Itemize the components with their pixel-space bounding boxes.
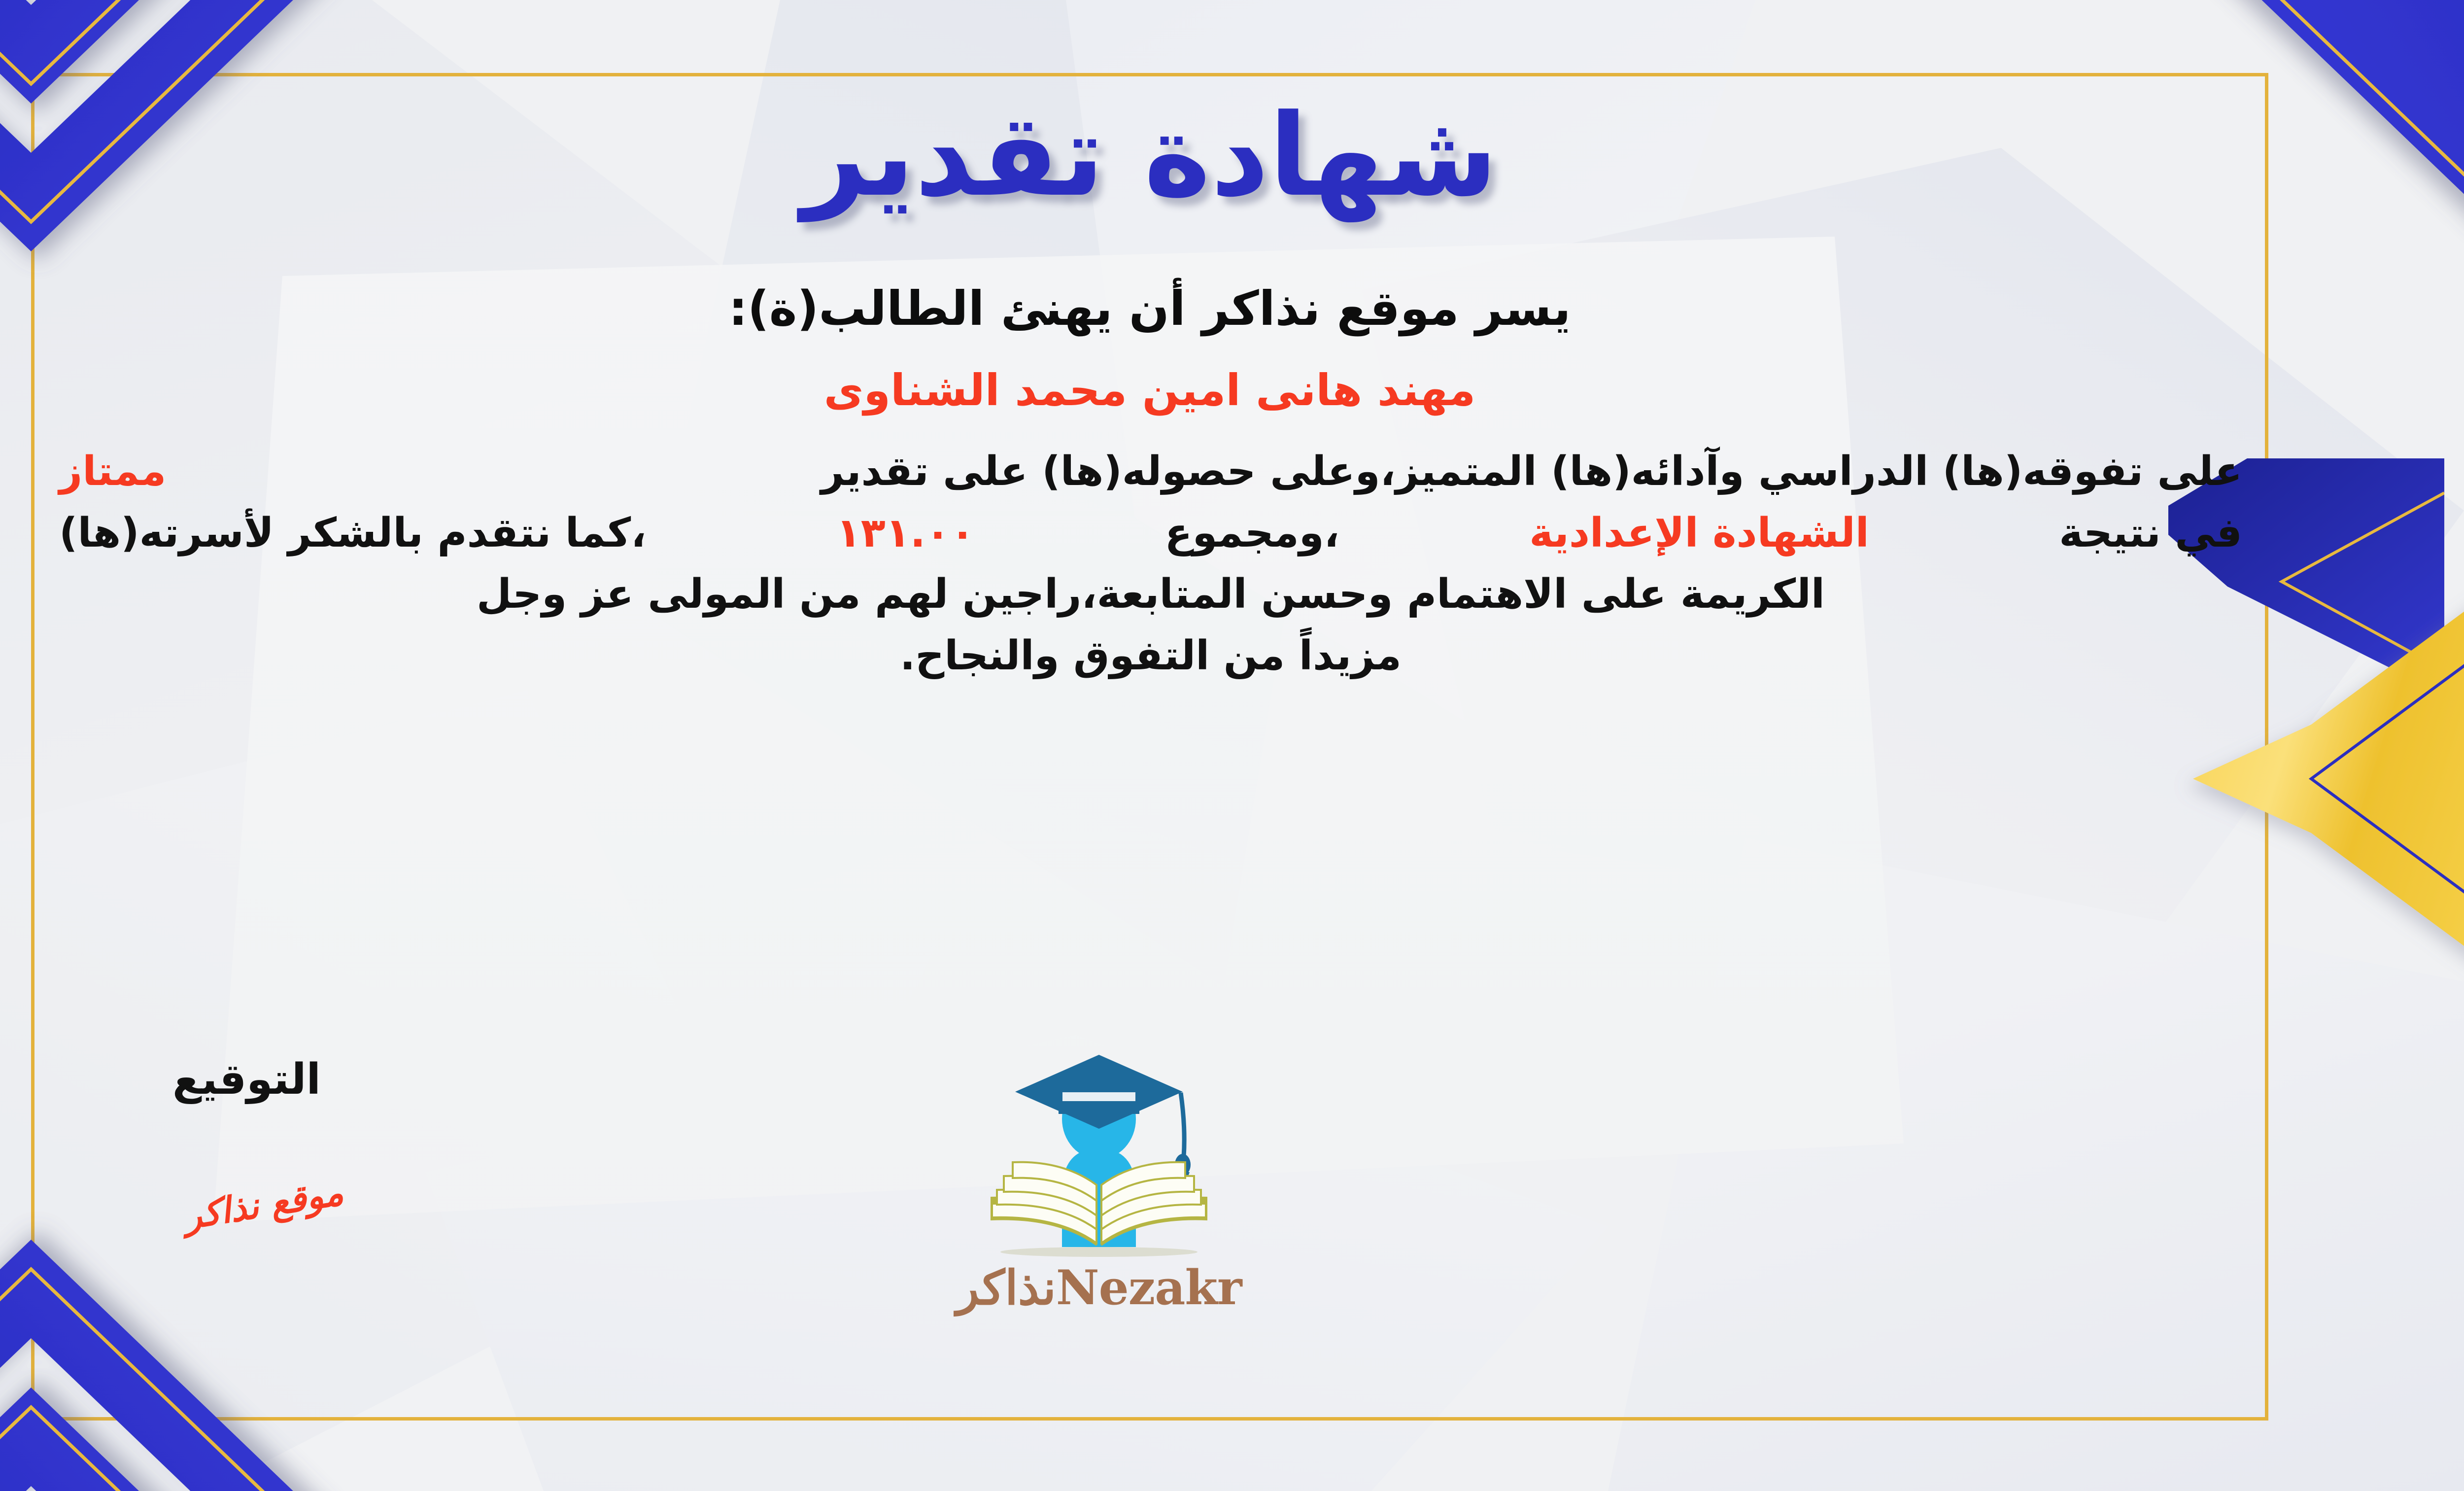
body-line-achievement: على تفوقه(ها) الدراسي وآدائه(ها) المتميز… bbox=[59, 441, 2242, 503]
thanks-clause: ،كما نتقدم بالشكر لأسرته(ها) bbox=[59, 503, 646, 564]
certificate-title: شهادة تقدير bbox=[34, 91, 2265, 222]
certificate-page: شهادة تقدير يسر موقع نذاكر أن يهنئ الطال… bbox=[0, 0, 2464, 1491]
result-prefix: في نتيجة bbox=[2059, 503, 2242, 564]
grade-value: ممتاز bbox=[59, 441, 166, 503]
body-line-family: الكريمة على الاهتمام وحسن المتابعة،راجين… bbox=[59, 564, 2242, 625]
total-label: ،ومجموع bbox=[1165, 503, 1339, 564]
signature-label: التوقيع bbox=[172, 1055, 321, 1104]
total-score: ١٣١.٠٠ bbox=[836, 503, 975, 564]
logo-wordmark: Nezakrنذاكر bbox=[912, 1260, 1286, 1316]
body-line-closing: مزيداً من التفوق والنجاح. bbox=[59, 625, 2242, 687]
exam-name: الشهادة الإعدادية bbox=[1529, 503, 1869, 564]
logo-arabic-text: نذاكر bbox=[956, 1260, 1056, 1316]
body-line-achievement-text: على تفوقه(ها) الدراسي وآدائه(ها) المتميز… bbox=[821, 441, 2242, 503]
certificate-content: شهادة تقدير يسر موقع نذاكر أن يهنئ الطال… bbox=[34, 76, 2265, 1417]
nezakr-logo: Nezakrنذاكر bbox=[912, 1045, 1286, 1370]
body-line-result: في نتيجة الشهادة الإعدادية ،ومجموع ١٣١.٠… bbox=[59, 503, 2242, 564]
student-name: مهند هانى امين محمد الشناوى bbox=[34, 365, 2265, 416]
greeting-line: يسر موقع نذاكر أن يهنئ الطالب(ة): bbox=[34, 281, 2265, 336]
signature-handwritten: موقع نذاكر bbox=[181, 1171, 346, 1238]
logo-latin-text: Nezakr bbox=[1056, 1260, 1242, 1316]
certificate-body: على تفوقه(ها) الدراسي وآدائه(ها) المتميز… bbox=[59, 441, 2242, 687]
graduation-cap-book-icon bbox=[961, 1045, 1237, 1257]
